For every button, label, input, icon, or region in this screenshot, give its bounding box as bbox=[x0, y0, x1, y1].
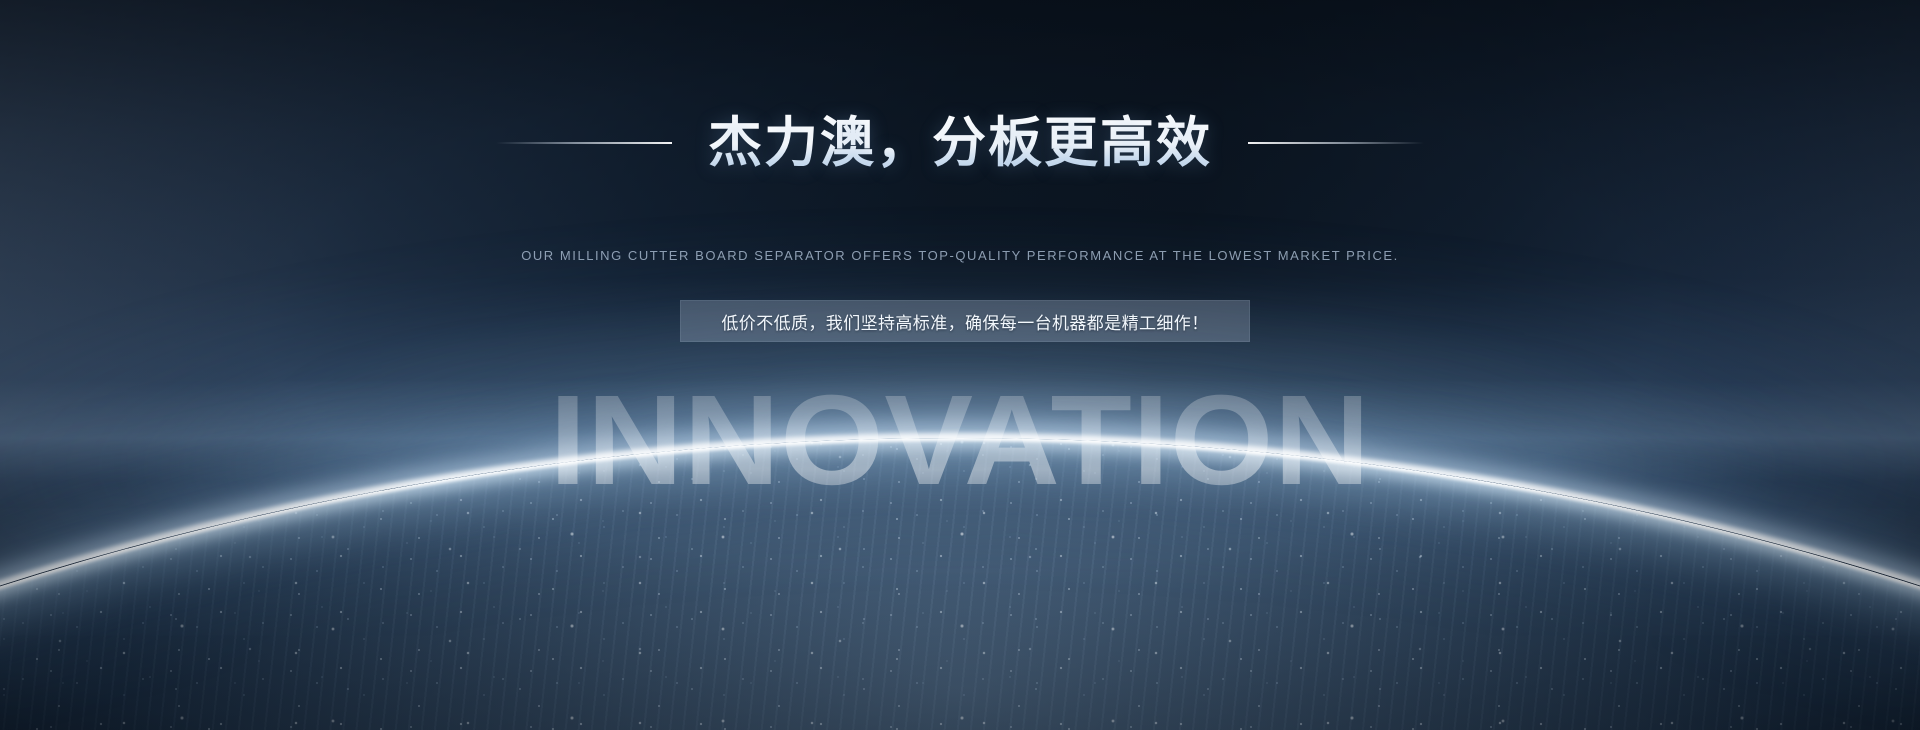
decorative-rule-left bbox=[496, 142, 672, 144]
hero-tagline-text: 低价不低质，我们坚持高标准，确保每一台机器都是精工细作！ bbox=[721, 309, 1208, 334]
hero-tagline-box: 低价不低质，我们坚持高标准，确保每一台机器都是精工细作！ bbox=[680, 300, 1250, 342]
hero-title-row: 杰力澳，分板更高效 bbox=[0, 113, 1920, 173]
hero-subtitle: OUR MILLING CUTTER BOARD SEPARATOR OFFER… bbox=[0, 248, 1920, 263]
decorative-rule-right bbox=[1248, 142, 1424, 144]
page-title: 杰力澳，分板更高效 bbox=[706, 113, 1214, 173]
hero-banner: INNOVATION 杰力澳，分板更高效 OUR MILLING CUTTER … bbox=[0, 0, 1920, 730]
hero-content: 杰力澳，分板更高效 OUR MILLING CUTTER BOARD SEPAR… bbox=[0, 0, 1920, 730]
